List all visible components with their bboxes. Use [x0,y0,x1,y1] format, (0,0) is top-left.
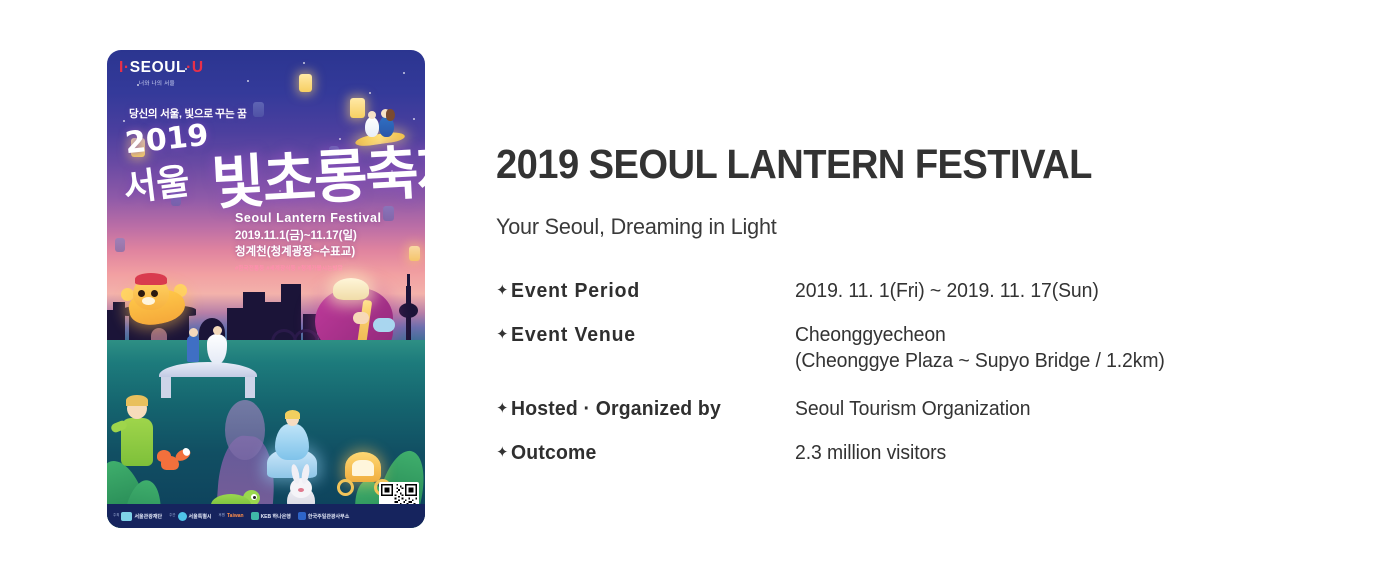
sparkle-icon: ✦ [496,278,511,304]
sponsor-name: 서울관광재단 [134,513,162,520]
sponsor-name: 서울특별시 [189,513,212,520]
logo-subtitle-kr: 너와 나의 서울 [139,79,204,87]
sparkle-icon: ✦ [496,440,511,466]
lantern-icon [299,74,312,92]
sponsor-item: 주관 서울특별시 [169,512,211,521]
detail-row-outcome: ✦ Outcome 2.3 million visitors [496,440,1346,466]
detail-row-event-venue: ✦ Event Venue Cheonggyecheon (Cheonggye … [496,322,1346,374]
sponsor-item: KEB 하나은행 [251,512,291,520]
sponsor-logo-mark [251,512,259,520]
detail-row-event-period: ✦ Event Period 2019. 11. 1(Fri) ~ 2019. … [496,278,1346,304]
sponsor-item: 한국주일관광사무소 [298,512,349,520]
lantern-icon [253,102,264,117]
sponsor-tag: 주관 [169,514,175,518]
detail-value: 2.3 million visitors [795,440,946,466]
poster-title-main-kr: 빛초롱축제 [209,123,425,220]
sparkle-icon: ✦ [496,322,511,348]
detail-value: Cheonggyecheon (Cheonggye Plaza ~ Supyo … [795,322,1165,374]
detail-label: Event Period [511,278,786,304]
detail-label: Outcome [511,440,786,466]
detail-list: ✦ Event Period 2019. 11. 1(Fri) ~ 2019. … [496,278,1346,466]
poster-title-seoul-kr: 서울 [120,152,192,212]
detail-value-line-1: Seoul Tourism Organization [795,398,1030,420]
sponsor-bar: 주최 서울관광재단 주관 서울특별시 후원 Taiwan KEB 하나은행 한국… [107,504,425,528]
lantern-icon [409,246,420,261]
sparkle-icon: ✦ [496,396,511,422]
detail-value: Seoul Tourism Organization [795,396,1030,422]
festival-poster-image: I·SEOUL·U 너와 나의 서울 당신의 서울, 빛으로 꾸는 꿈 2019… [107,50,425,528]
detail-value: 2019. 11. 1(Fri) ~ 2019. 11. 17(Sun) [795,278,1099,304]
detail-value-line-1: Cheonggyecheon [795,322,1165,348]
detail-value-line-2: (Cheonggye Plaza ~ Supyo Bridge / 1.2km) [795,348,1165,374]
lantern-icon [115,238,125,252]
logo-word-seoul: SEOUL [130,59,186,76]
detail-value-line-1: 2019. 11. 1(Fri) ~ 2019. 11. 17(Sun) [795,280,1099,302]
sponsor-name: KEB 하나은행 [261,513,291,520]
sponsor-name: 한국주일관광사무소 [308,513,349,520]
poster-english-name: Seoul Lantern Festival [235,210,382,227]
sponsor-logo-mark [298,512,306,520]
fox-illustration [155,446,189,476]
i-seoul-u-logo: I·SEOUL·U 너와 나의 서울 [119,60,204,87]
poster-venue-kr: 청계천(청계광장~수표교) [235,245,382,261]
festival-info-panel: 2019 SEOUL LANTERN FESTIVAL Your Seoul, … [496,116,1346,466]
logo-letter-u: U [192,59,204,76]
page-subtitle: Your Seoul, Dreaming in Light [496,214,1312,240]
page-root: I·SEOUL·U 너와 나의 서울 당신의 서울, 빛으로 꾸는 꿈 2019… [0,0,1400,580]
sponsor-tag: 주최 [113,514,119,518]
detail-label: Hosted · Organized by [511,396,786,422]
poster-hashtags-kr: #한국전통등 #세계장식등 #청계가볼시는빛깔 [235,266,382,273]
tiger-lantern-illustration [121,272,191,334]
couple-illustration [187,330,233,366]
sponsor-logo-mark [121,512,132,521]
stone-bridge-illustration [159,362,257,402]
sponsor-item: 후원 Taiwan [219,513,244,519]
detail-value-line-1: 2.3 million visitors [795,442,946,464]
poster-date-kr: 2019.11.1(금)~11.17(일) [235,229,382,245]
boy-lantern-illustration [113,398,161,474]
sponsor-item: 주최 서울관광재단 [113,512,162,521]
poster-info-block: Seoul Lantern Festival 2019.11.1(금)~11.1… [235,210,382,273]
sponsor-tag: 후원 [219,514,225,518]
detail-label: Event Venue [511,322,786,348]
princess-illustration [275,412,309,460]
page-title: 2019 SEOUL LANTERN FESTIVAL [496,143,1287,186]
detail-row-hosted-organized-by: ✦ Hosted · Organized by Seoul Tourism Or… [496,396,1346,422]
sponsor-name: Taiwan [227,513,244,519]
sponsor-logo-mark [178,512,187,521]
